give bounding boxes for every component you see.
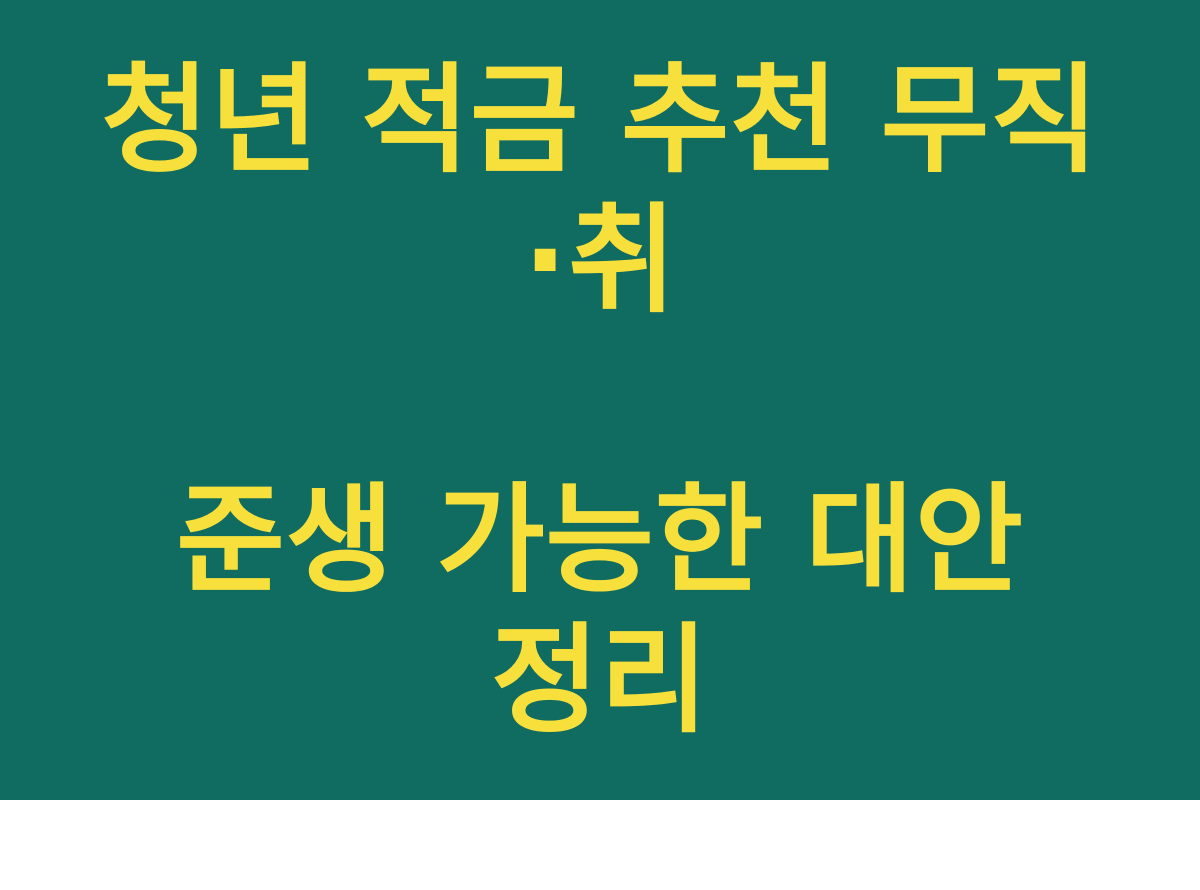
banner-canvas: 청년 적금 추천 무직·취 준생 가능한 대안 정리	[0, 0, 1200, 800]
headline-line-2: 준생 가능한 대안 정리	[85, 470, 1115, 750]
page-title: 청년 적금 추천 무직·취 준생 가능한 대안 정리	[85, 0, 1115, 890]
headline-line-1: 청년 적금 추천 무직·취	[85, 50, 1115, 330]
